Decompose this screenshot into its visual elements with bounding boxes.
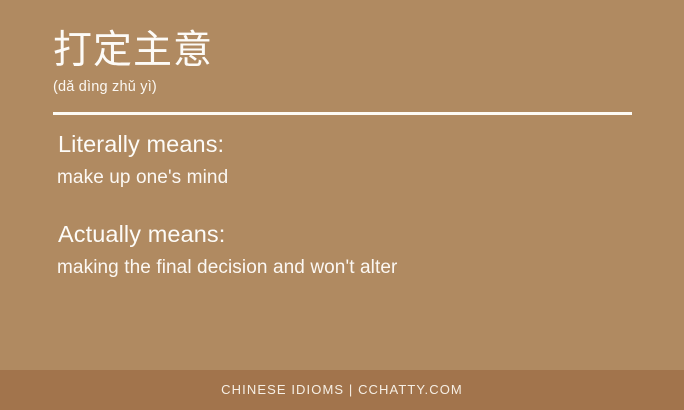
literal-meaning-heading: Literally means:: [58, 129, 684, 159]
literal-meaning-text: make up one's mind: [57, 165, 684, 191]
idiom-card: 打定主意 (dǎ dìng zhǔ yì) Literally means: m…: [0, 0, 684, 410]
actual-meaning-heading: Actually means:: [58, 219, 684, 249]
idiom-header: 打定主意 (dǎ dìng zhǔ yì): [53, 28, 633, 97]
actual-meaning-text: making the final decision and won't alte…: [57, 255, 684, 281]
header-divider: [53, 112, 632, 115]
actual-meaning-section: Actually means: making the final decisio…: [0, 219, 684, 281]
literal-meaning-section: Literally means: make up one's mind: [0, 129, 684, 191]
idiom-pinyin: (dǎ dìng zhǔ yì): [53, 78, 633, 97]
idiom-hanzi-title: 打定主意: [53, 28, 633, 74]
footer-branding-text: CHINESE IDIOMS | CCHATTY.COM: [221, 382, 463, 398]
meaning-sections: Literally means: make up one's mind Actu…: [0, 129, 684, 309]
footer-bar: CHINESE IDIOMS | CCHATTY.COM: [0, 370, 684, 410]
